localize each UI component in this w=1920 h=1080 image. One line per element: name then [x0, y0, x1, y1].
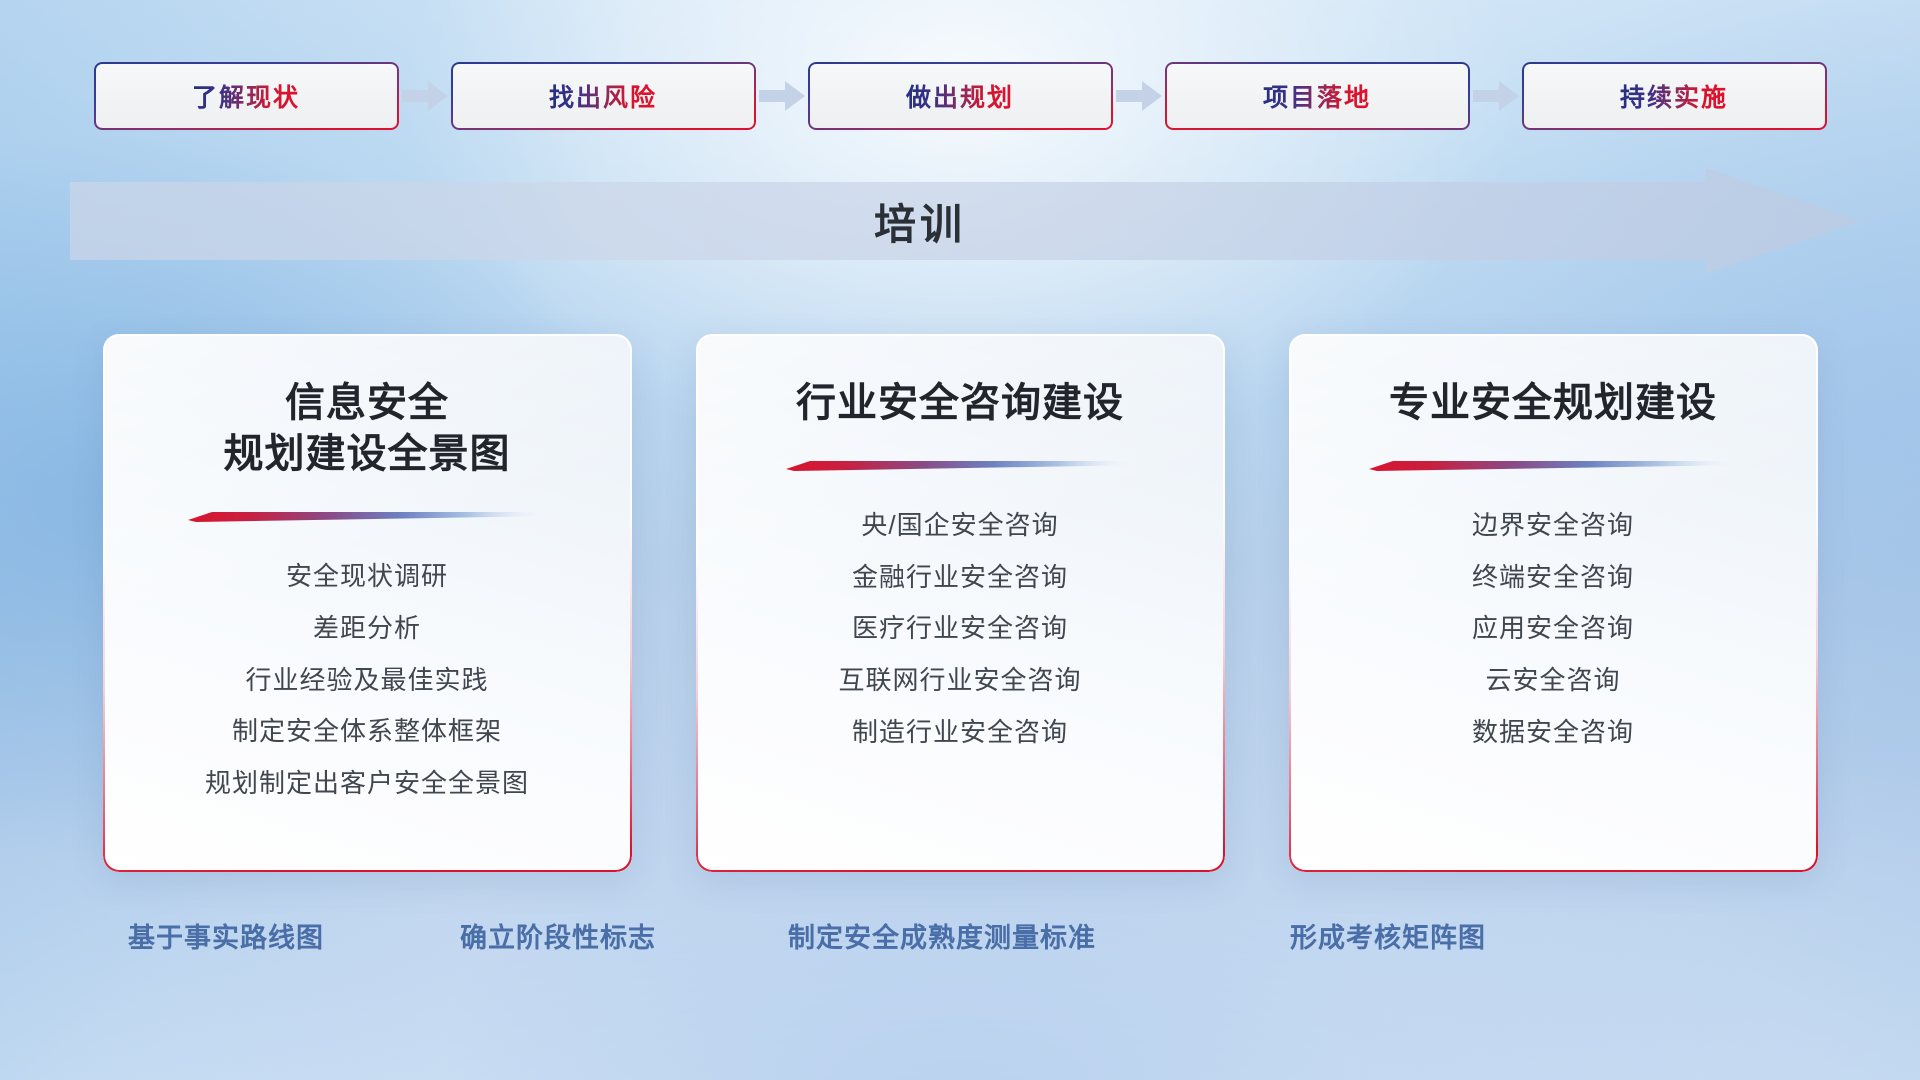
- feature-card[interactable]: 信息安全 规划建设全景图: [103, 334, 632, 872]
- list-item: 数据安全咨询: [1472, 712, 1634, 754]
- banner-label: 培训: [70, 168, 1770, 274]
- list-item: 互联网行业安全咨询: [838, 660, 1081, 702]
- list-item: 制造行业安全咨询: [852, 712, 1068, 754]
- card-title: 行业安全咨询建设: [796, 378, 1124, 429]
- list-item: 金融行业安全咨询: [852, 557, 1068, 599]
- caption-label: 制定安全成熟度测量标准: [788, 916, 1096, 955]
- gradient-underline-icon: [1359, 459, 1747, 471]
- card-title: 专业安全规划建设: [1389, 378, 1717, 429]
- step-box-5[interactable]: 持续实施: [1524, 64, 1825, 128]
- caption-label: 形成考核矩阵图: [1290, 916, 1486, 955]
- step-label: 了解现状: [192, 78, 300, 114]
- step-label: 做出规划: [906, 78, 1014, 114]
- list-item: 安全现状调研: [286, 556, 448, 598]
- step-connector-arrow-icon: [754, 62, 810, 130]
- step-box-1[interactable]: 了解现状: [96, 64, 397, 128]
- caption-label: 基于事实路线图: [128, 916, 324, 955]
- list-item: 终端安全咨询: [1472, 557, 1634, 599]
- step-label: 持续实施: [1620, 78, 1728, 114]
- step-connector-arrow-icon: [1468, 62, 1524, 130]
- step-label: 找出风险: [549, 78, 657, 114]
- gradient-underline-icon: [178, 510, 556, 522]
- list-item: 云安全咨询: [1485, 660, 1620, 702]
- list-item: 边界安全咨询: [1472, 505, 1634, 547]
- caption-label: 确立阶段性标志: [460, 916, 656, 955]
- step-label: 项目落地: [1263, 78, 1371, 114]
- list-item: 医疗行业安全咨询: [852, 608, 1068, 650]
- list-item: 规划制定出客户安全全景图: [205, 763, 529, 805]
- list-item: 央/国企安全咨询: [861, 505, 1058, 547]
- card-item-list: 安全现状调研 差距分析 行业经验及最佳实践 制定安全体系整体框架 规划制定出客户…: [205, 556, 529, 804]
- training-banner: 培训: [70, 168, 1860, 274]
- step-box-3[interactable]: 做出规划: [810, 64, 1111, 128]
- card-item-list: 央/国企安全咨询 金融行业安全咨询 医疗行业安全咨询 互联网行业安全咨询 制造行…: [838, 505, 1081, 753]
- list-item: 差距分析: [313, 608, 421, 650]
- gradient-underline-icon: [776, 459, 1144, 471]
- list-item: 行业经验及最佳实践: [245, 660, 488, 702]
- feature-card[interactable]: 行业安全咨询建设: [696, 334, 1225, 872]
- card-title: 信息安全 规划建设全景图: [224, 378, 511, 480]
- list-item: 制定安全体系整体框架: [232, 711, 502, 753]
- process-step-flow: 了解现状 找出风险 做出规划 项目落地: [0, 62, 1920, 130]
- feature-card-group: 信息安全 规划建设全景图: [0, 334, 1920, 874]
- card-item-list: 边界安全咨询 终端安全咨询 应用安全咨询 云安全咨询 数据安全咨询: [1472, 505, 1634, 753]
- step-box-4[interactable]: 项目落地: [1167, 64, 1468, 128]
- slide-canvas: 了解现状 找出风险 做出规划 项目落地: [0, 0, 1920, 1080]
- step-box-2[interactable]: 找出风险: [453, 64, 754, 128]
- step-connector-arrow-icon: [1111, 62, 1167, 130]
- feature-card[interactable]: 专业安全规划建设: [1289, 334, 1818, 872]
- caption-row: 基于事实路线图 确立阶段性标志 制定安全成熟度测量标准 形成考核矩阵图: [0, 916, 1920, 972]
- list-item: 应用安全咨询: [1472, 608, 1634, 650]
- step-connector-arrow-icon: [397, 62, 453, 130]
